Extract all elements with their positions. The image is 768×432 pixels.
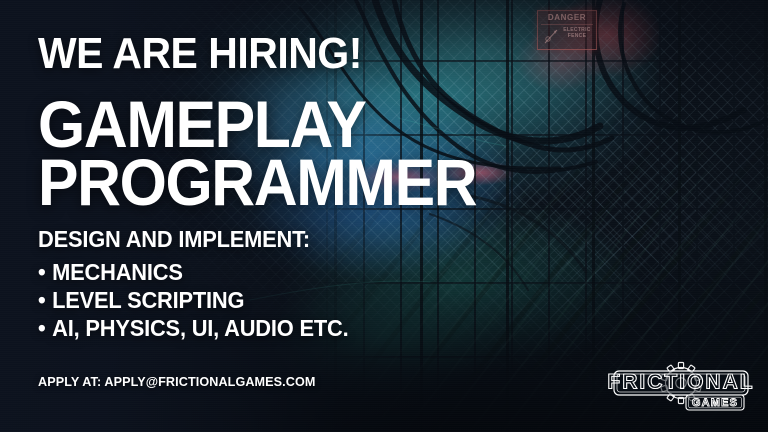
logo-wordmark-text: FRICTIONAL [607, 371, 754, 394]
kicker-text: WE ARE HIRING! [38, 32, 481, 76]
headline-line-2: PROGRAMMER [38, 150, 476, 214]
responsibilities-list: •MECHANICS •LEVEL SCRIPTING •AI, PHYSICS… [38, 258, 365, 342]
logo-submark-text: GAMES [692, 397, 738, 409]
frictional-games-logo: FRICTIONAL GAMES [612, 356, 750, 414]
apply-contact-line: APPLY AT: APPLY@FRICTIONALGAMES.COM [38, 374, 315, 389]
list-item: •LEVEL SCRIPTING [38, 286, 348, 314]
headline-group: WE ARE HIRING! GAMEPLAY PROGRAMMER [38, 32, 514, 214]
poster-content: WE ARE HIRING! GAMEPLAY PROGRAMMER DESIG… [0, 0, 768, 432]
list-item: •AI, PHYSICS, UI, AUDIO ETC. [38, 314, 348, 342]
hiring-poster: DANGER ELECTRIC FENCE WE ARE HIRING! GAM… [0, 0, 768, 432]
logo-submark-plate: GAMES [686, 395, 744, 410]
list-item: •MECHANICS [38, 258, 348, 286]
responsibilities-block: DESIGN AND IMPLEMENT: •MECHANICS •LEVEL … [38, 227, 365, 342]
section-heading: DESIGN AND IMPLEMENT: [38, 227, 348, 252]
list-item-label: MECHANICS [52, 259, 183, 285]
bullet-icon: • [38, 315, 45, 341]
bullet-icon: • [38, 287, 45, 313]
list-item-label: LEVEL SCRIPTING [52, 287, 244, 313]
list-item-label: AI, PHYSICS, UI, AUDIO ETC. [52, 315, 348, 341]
logo-wordmark-plate: FRICTIONAL [607, 371, 754, 396]
bullet-icon: • [38, 259, 45, 285]
